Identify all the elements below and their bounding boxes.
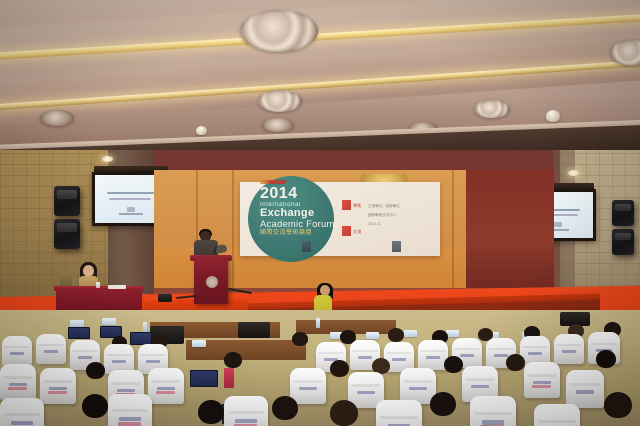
- banner-top-mark-icon: [260, 180, 286, 184]
- chair-logo-icon: [471, 385, 488, 389]
- banner-stamp-caption: 學術: [353, 203, 362, 209]
- ceiling-vent-icon: [40, 110, 74, 126]
- chair-logo-red-icon: [8, 387, 27, 390]
- chair-logo-icon: [112, 360, 126, 363]
- audience-chair: [534, 404, 580, 426]
- banner-logo-icon: [302, 241, 311, 252]
- audience-chair: [2, 336, 32, 366]
- chair-logo-icon: [157, 387, 174, 391]
- audience-chair: [470, 396, 516, 426]
- ceiling-vent-icon: [262, 118, 294, 132]
- conference-hall-photo: 2014 International Exchange Academic For…: [0, 0, 640, 426]
- banner-exchange: Exchange: [260, 208, 360, 219]
- audience-chair: [36, 334, 66, 364]
- attendee-head: [198, 400, 224, 424]
- chair-logo-icon: [299, 387, 316, 391]
- event-banner: 2014 International Exchange Academic For…: [240, 182, 440, 256]
- chair-logo-icon: [576, 390, 594, 394]
- audience-chair: [40, 368, 76, 404]
- banner-side-text: 主辦單位 / 協辦單位: [368, 204, 422, 209]
- chair-logo-icon: [533, 381, 550, 385]
- water-bottle: [143, 322, 147, 332]
- chair-logo-icon: [357, 391, 374, 395]
- audience-chair: [290, 368, 326, 404]
- wall-light-icon: [102, 156, 113, 162]
- laptop: [190, 370, 218, 387]
- wall-panel-seam: [452, 170, 454, 288]
- attendee-head: [388, 328, 404, 342]
- loudspeaker-left-lower: [54, 219, 80, 249]
- audience-chair: [148, 368, 184, 404]
- chair-logo-icon: [392, 358, 406, 361]
- name-card: [366, 332, 379, 339]
- chair-logo-icon: [409, 387, 426, 391]
- chair-logo-icon: [78, 356, 92, 359]
- name-card: [102, 318, 116, 325]
- chair-logo-icon: [562, 350, 576, 353]
- banner-stamp-caption: 交流: [353, 229, 362, 235]
- attendee-head: [292, 332, 308, 346]
- name-card: [192, 340, 206, 347]
- chair-logo-red-icon: [156, 391, 175, 394]
- attendee-head: [330, 400, 358, 426]
- attendee-head: [86, 362, 105, 379]
- laptop: [68, 327, 90, 339]
- slide-logo-icon: [127, 207, 136, 212]
- chair-logo-icon: [528, 352, 542, 355]
- audience-chair: [108, 394, 152, 426]
- audience-chair: [0, 364, 36, 400]
- audience-chair: [224, 396, 268, 426]
- name-card: [404, 330, 417, 337]
- chair-logo-icon: [426, 356, 440, 359]
- name-card: [70, 320, 84, 327]
- stage-right-wall: [466, 170, 554, 288]
- chair-logo-red-icon: [118, 422, 141, 426]
- chair-logo-icon: [49, 387, 66, 391]
- chair-logo-icon: [9, 383, 26, 387]
- chair-logo-icon: [460, 354, 474, 357]
- slide-footer-line: [119, 213, 142, 215]
- banner-stamp-icon: [342, 226, 351, 236]
- chair-logo-red-icon: [532, 385, 551, 388]
- chair-logo-icon: [235, 419, 256, 423]
- audience-chair: [524, 362, 560, 398]
- table-documents: [108, 285, 126, 289]
- chair-logo-icon: [482, 420, 504, 425]
- chair-logo-icon: [11, 421, 32, 425]
- stage-equipment-case: [158, 294, 172, 302]
- loudspeaker-left-upper: [54, 186, 80, 216]
- ceiling-spotlight-icon: [546, 110, 560, 122]
- chair-logo-icon: [146, 360, 160, 363]
- water-cup: [96, 282, 100, 288]
- audience-chair: [554, 334, 584, 364]
- water-bottle: [316, 318, 320, 328]
- banner-logo-icon: [392, 241, 401, 252]
- attendee-head: [224, 352, 242, 368]
- attendee-head: [272, 396, 298, 420]
- attendee-head: [596, 350, 616, 368]
- slide-title-line: [107, 192, 155, 194]
- slide-logo-icon: [554, 222, 562, 227]
- slide-subtitle-line: [109, 198, 151, 200]
- banner-stamp-icon: [342, 200, 351, 210]
- ceiling-vent-icon: [240, 10, 318, 52]
- audience-box: [224, 368, 234, 388]
- podium-seal-icon: [206, 276, 218, 288]
- loudspeaker-right-upper: [612, 200, 634, 226]
- ceiling-vent-icon: [474, 100, 510, 118]
- attendee-head: [444, 356, 463, 373]
- loudspeaker-right-lower: [612, 229, 634, 255]
- banner-side-text: 國際學術交流中心: [368, 213, 422, 218]
- ceiling-vent-icon: [258, 90, 302, 112]
- chair-logo-red-icon: [48, 391, 67, 394]
- audience-chair: [376, 400, 422, 426]
- ceiling-spotlight-icon: [196, 126, 207, 135]
- attendee-head: [604, 392, 632, 418]
- chair-logo-icon: [358, 356, 372, 359]
- attendee-head: [82, 394, 108, 418]
- wall-panel-seam: [232, 170, 234, 288]
- attendee-head: [330, 360, 349, 377]
- attendee-head: [506, 354, 525, 371]
- attendee-head: [430, 392, 456, 416]
- chair-logo-icon: [10, 352, 24, 355]
- banner-side-text: 2014.11: [368, 222, 422, 227]
- chair-logo-icon: [117, 389, 134, 393]
- chair-logo-icon: [44, 350, 58, 353]
- wall-light-icon: [568, 170, 579, 176]
- audience-chair: [566, 370, 604, 408]
- chair-logo-icon: [119, 417, 140, 421]
- audience-bag: [238, 322, 270, 338]
- chair-logo-icon: [494, 354, 508, 357]
- audience-chair: [0, 398, 44, 426]
